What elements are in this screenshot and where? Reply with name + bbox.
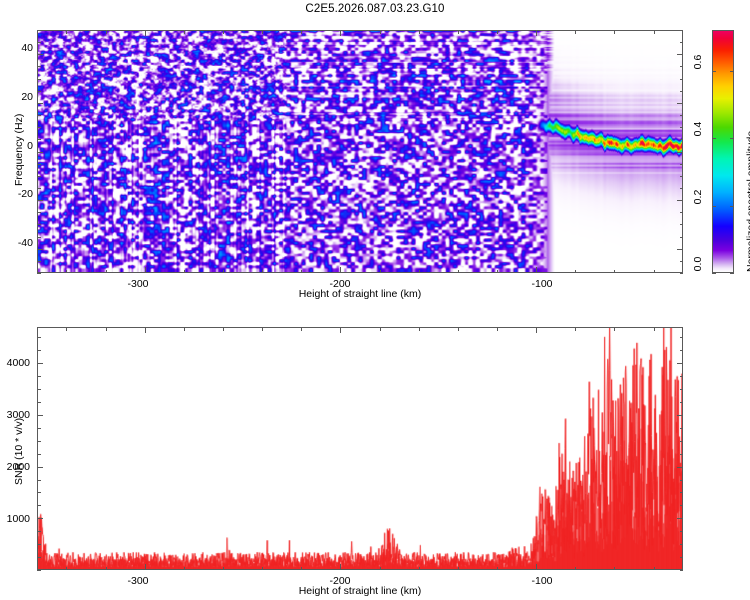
tick-mark — [536, 564, 537, 570]
colorbar-label: Normalized spectral amplitude — [745, 131, 750, 272]
spectrogram-yticklabel: -40 — [0, 237, 33, 249]
tick-mark — [536, 30, 537, 36]
tick-mark — [37, 337, 41, 338]
tick-mark — [301, 30, 302, 34]
tick-mark — [37, 415, 43, 416]
tick-mark — [680, 164, 684, 165]
tick-mark — [614, 327, 615, 331]
tick-mark — [419, 30, 420, 34]
tick-mark — [497, 567, 498, 571]
tick-mark — [680, 505, 684, 506]
tick-mark — [66, 30, 67, 34]
colorbar-tick — [712, 71, 716, 72]
tick-mark — [680, 557, 684, 558]
tick-mark — [680, 350, 684, 351]
tick-mark — [184, 30, 185, 34]
colorbar-gradient — [713, 31, 733, 272]
tick-mark — [262, 30, 263, 34]
tick-mark — [37, 505, 41, 506]
tick-mark — [223, 30, 224, 34]
tick-mark — [654, 567, 655, 571]
tick-mark — [184, 270, 185, 274]
tick-mark — [340, 564, 341, 570]
tick-mark — [680, 531, 684, 532]
tick-mark — [37, 376, 41, 377]
tick-mark — [536, 327, 537, 333]
tick-mark — [37, 363, 43, 364]
tick-mark — [301, 270, 302, 274]
tick-mark — [184, 567, 185, 571]
tick-mark — [680, 492, 684, 493]
tick-mark — [680, 139, 684, 140]
tick-mark — [106, 270, 107, 274]
tick-mark — [680, 91, 684, 92]
figure-container: C2E5.2026.087.03.23.G10 -300 -200 -100 4… — [0, 0, 750, 600]
tick-mark — [37, 467, 43, 468]
snr-canvas — [38, 328, 682, 569]
tick-mark — [262, 567, 263, 571]
tick-mark — [184, 327, 185, 331]
tick-mark — [680, 480, 684, 481]
tick-mark — [340, 267, 341, 273]
tick-mark — [66, 270, 67, 274]
colorbar-tick — [730, 273, 734, 274]
snr-yaxis-label: SNR (10 * v/v) — [13, 418, 25, 485]
spectrogram-xaxis-label: Height of straight line (km) — [37, 288, 683, 300]
tick-mark — [654, 270, 655, 274]
tick-mark — [37, 480, 41, 481]
tick-mark — [380, 30, 381, 34]
tick-mark — [37, 428, 41, 429]
colorbar-tick — [730, 71, 734, 72]
colorbar — [712, 30, 734, 273]
tick-mark — [106, 30, 107, 34]
tick-mark — [497, 327, 498, 331]
tick-mark — [37, 66, 41, 67]
tick-mark — [301, 567, 302, 571]
tick-mark — [37, 249, 43, 250]
tick-mark — [654, 30, 655, 34]
tick-mark — [37, 570, 41, 571]
tick-mark — [680, 441, 684, 442]
tick-mark — [677, 103, 683, 104]
tick-mark — [223, 270, 224, 274]
tick-mark — [419, 327, 420, 331]
tick-mark — [680, 402, 684, 403]
page-title: C2E5.2026.087.03.23.G10 — [0, 3, 750, 15]
tick-mark — [37, 557, 41, 558]
tick-mark — [37, 492, 41, 493]
tick-mark — [37, 91, 41, 92]
tick-mark — [677, 467, 683, 468]
tick-mark — [37, 531, 41, 532]
tick-mark — [680, 224, 684, 225]
tick-mark — [458, 30, 459, 34]
tick-mark — [677, 249, 683, 250]
colorbar-tick — [730, 206, 734, 207]
tick-mark — [37, 454, 41, 455]
tick-mark — [145, 30, 146, 36]
tick-mark — [575, 327, 576, 331]
spectrogram-yaxis-label: Frequency (Hz) — [13, 114, 25, 186]
tick-mark — [37, 115, 41, 116]
spectrogram-yticklabel: -20 — [0, 188, 33, 200]
colorbar-ticklabel: 0.4 — [692, 114, 704, 144]
tick-mark — [66, 327, 67, 331]
tick-mark — [536, 267, 537, 273]
tick-mark — [37, 441, 41, 442]
tick-mark — [680, 115, 684, 116]
tick-mark — [458, 270, 459, 274]
colorbar-ticklabel: 0.2 — [692, 182, 704, 212]
tick-mark — [262, 327, 263, 331]
spectrogram-yticklabel: 40 — [0, 42, 33, 54]
tick-mark — [680, 79, 684, 80]
tick-mark — [37, 42, 41, 43]
tick-mark — [37, 176, 41, 177]
tick-mark — [677, 415, 683, 416]
colorbar-tick — [730, 138, 734, 139]
tick-mark — [106, 567, 107, 571]
tick-mark — [680, 237, 684, 238]
tick-mark — [677, 363, 683, 364]
tick-mark — [680, 337, 684, 338]
spectrogram-yticklabel: 20 — [0, 91, 33, 103]
colorbar-ticklabel: 0.6 — [692, 47, 704, 77]
tick-mark — [145, 564, 146, 570]
tick-mark — [680, 42, 684, 43]
tick-mark — [497, 30, 498, 34]
tick-mark — [380, 270, 381, 274]
tick-mark — [380, 567, 381, 571]
tick-mark — [497, 270, 498, 274]
tick-mark — [145, 267, 146, 273]
tick-mark — [680, 389, 684, 390]
tick-mark — [575, 30, 576, 34]
tick-mark — [677, 54, 683, 55]
tick-mark — [614, 567, 615, 571]
tick-mark — [106, 327, 107, 331]
colorbar-ticklabel: 0.0 — [692, 249, 704, 279]
tick-mark — [37, 212, 41, 213]
tick-mark — [680, 176, 684, 177]
tick-mark — [37, 224, 41, 225]
tick-mark — [262, 270, 263, 274]
colorbar-tick — [712, 273, 716, 274]
snr-xaxis-label: Height of straight line (km) — [37, 585, 683, 597]
snr-plot-area — [37, 327, 683, 570]
colorbar-tick — [712, 138, 716, 139]
tick-mark — [37, 261, 41, 262]
tick-mark — [340, 327, 341, 333]
tick-mark — [614, 30, 615, 34]
spectrogram-plot-area — [37, 30, 683, 273]
tick-mark — [680, 570, 684, 571]
tick-mark — [37, 30, 41, 31]
tick-mark — [223, 327, 224, 331]
tick-mark — [37, 164, 41, 165]
tick-mark — [37, 188, 41, 189]
tick-mark — [145, 327, 146, 333]
tick-mark — [37, 544, 41, 545]
tick-mark — [680, 66, 684, 67]
tick-mark — [575, 567, 576, 571]
tick-mark — [614, 270, 615, 274]
tick-mark — [680, 127, 684, 128]
tick-mark — [680, 30, 684, 31]
tick-mark — [419, 270, 420, 274]
tick-mark — [37, 389, 41, 390]
tick-mark — [37, 518, 43, 519]
tick-mark — [380, 327, 381, 331]
tick-mark — [37, 139, 41, 140]
tick-mark — [340, 30, 341, 36]
tick-mark — [680, 261, 684, 262]
tick-mark — [680, 212, 684, 213]
tick-mark — [680, 273, 684, 274]
tick-mark — [37, 273, 41, 274]
tick-mark — [37, 237, 41, 238]
tick-mark — [37, 127, 41, 128]
tick-mark — [654, 327, 655, 331]
snr-yticklabel: 1000 — [0, 513, 30, 525]
tick-mark — [680, 376, 684, 377]
tick-mark — [458, 567, 459, 571]
tick-mark — [37, 103, 43, 104]
tick-mark — [419, 567, 420, 571]
tick-mark — [677, 518, 683, 519]
tick-mark — [680, 544, 684, 545]
tick-mark — [677, 152, 683, 153]
tick-mark — [680, 188, 684, 189]
tick-mark — [37, 402, 41, 403]
tick-mark — [677, 200, 683, 201]
tick-mark — [37, 152, 43, 153]
snr-yticklabel: 4000 — [0, 357, 30, 369]
tick-mark — [458, 327, 459, 331]
colorbar-tick — [712, 206, 716, 207]
spectrogram-canvas — [38, 31, 682, 272]
tick-mark — [37, 79, 41, 80]
tick-mark — [680, 428, 684, 429]
tick-mark — [575, 270, 576, 274]
tick-mark — [37, 200, 43, 201]
tick-mark — [223, 567, 224, 571]
tick-mark — [680, 454, 684, 455]
tick-mark — [37, 350, 41, 351]
tick-mark — [301, 327, 302, 331]
tick-mark — [37, 54, 43, 55]
tick-mark — [66, 567, 67, 571]
